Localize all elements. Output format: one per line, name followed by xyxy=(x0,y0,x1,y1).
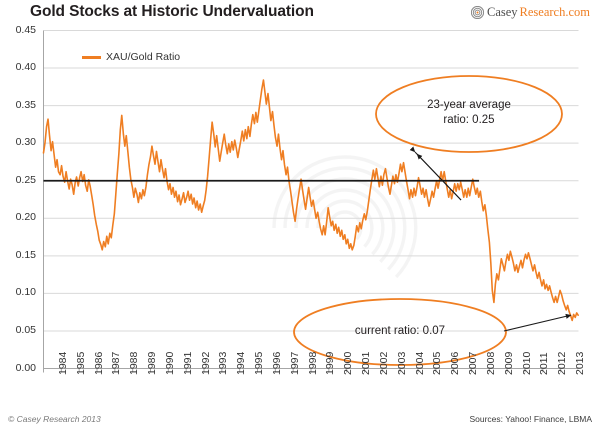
x-axis-tick-label: 1988 xyxy=(128,351,140,374)
y-axis-tick-label: 0.35 xyxy=(2,99,36,111)
x-axis-tick-label: 2011 xyxy=(538,352,550,375)
x-axis-tick-label: 1992 xyxy=(200,351,212,374)
x-axis-tick-label: 2006 xyxy=(449,351,461,374)
legend-label-xau-gold-ratio: XAU/Gold Ratio xyxy=(106,51,180,63)
x-axis-tick-label: 2002 xyxy=(378,351,390,374)
x-axis-tick-label: 1991 xyxy=(182,351,194,374)
x-axis-tick-label: 1989 xyxy=(146,351,158,374)
current-ratio-arrow xyxy=(504,315,571,331)
x-axis-tick-label: 1998 xyxy=(307,351,319,374)
average-ratio-line1: 23-year average xyxy=(379,98,559,113)
x-axis-tick-label: 1997 xyxy=(289,351,301,374)
x-axis-tick-label: 1994 xyxy=(235,351,247,374)
x-axis-tick-label: 1985 xyxy=(75,351,87,374)
chart-container: Gold Stocks at Historic Undervaluation C… xyxy=(0,0,600,430)
y-axis-tick-label: 0.45 xyxy=(2,24,36,36)
y-axis-tick-label: 0.40 xyxy=(2,61,36,73)
y-axis-tick-label: 0.10 xyxy=(2,286,36,298)
x-axis-tick-label: 1995 xyxy=(253,351,265,374)
x-axis-tick-label: 2009 xyxy=(503,351,515,374)
average-ratio-callout-text: 23-year average ratio: 0.25 xyxy=(379,98,559,128)
legend-swatch-xau-gold-ratio xyxy=(82,56,101,59)
x-axis-tick-label: 1999 xyxy=(324,351,336,374)
y-axis-tick-label: 0.15 xyxy=(2,249,36,261)
x-axis-tick-label: 1987 xyxy=(110,351,122,374)
y-axis-tick-label: 0.00 xyxy=(2,362,36,374)
x-axis-tick-label: 1996 xyxy=(271,351,283,374)
x-axis-tick-label: 2000 xyxy=(342,351,354,374)
x-axis-tick-label: 2012 xyxy=(556,351,568,374)
x-axis-tick-label: 1986 xyxy=(93,351,105,374)
y-axis-tick-label: 0.05 xyxy=(2,324,36,336)
x-axis-tick-label: 2001 xyxy=(360,351,372,374)
x-axis-tick-label: 2008 xyxy=(485,351,497,374)
y-axis-tick-label: 0.25 xyxy=(2,174,36,186)
x-axis-tick-label: 2005 xyxy=(431,351,443,374)
copyright-text: © Casey Research 2013 xyxy=(8,414,101,424)
current-ratio-line1: current ratio: 0.07 xyxy=(300,324,500,339)
y-axis-tick-label: 0.30 xyxy=(2,136,36,148)
x-axis-tick-label: 2007 xyxy=(467,351,479,374)
x-axis-tick-label: 1990 xyxy=(164,351,176,374)
x-axis-tick-label: 2004 xyxy=(414,351,426,374)
average-ratio-line2: ratio: 0.25 xyxy=(379,113,559,128)
x-axis-tick-label: 2003 xyxy=(396,351,408,374)
current-ratio-callout-text: current ratio: 0.07 xyxy=(300,324,500,339)
sources-text: Sources: Yahoo! Finance, LBMA xyxy=(469,414,592,424)
y-axis-tick-label: 0.20 xyxy=(2,211,36,223)
x-axis-tick-label: 1984 xyxy=(57,351,69,374)
chart-legend: XAU/Gold Ratio xyxy=(82,51,180,63)
x-axis-tick-label: 1993 xyxy=(217,351,229,374)
x-axis-tick-label: 2010 xyxy=(521,351,533,374)
x-axis-tick-label: 2013 xyxy=(574,351,586,374)
